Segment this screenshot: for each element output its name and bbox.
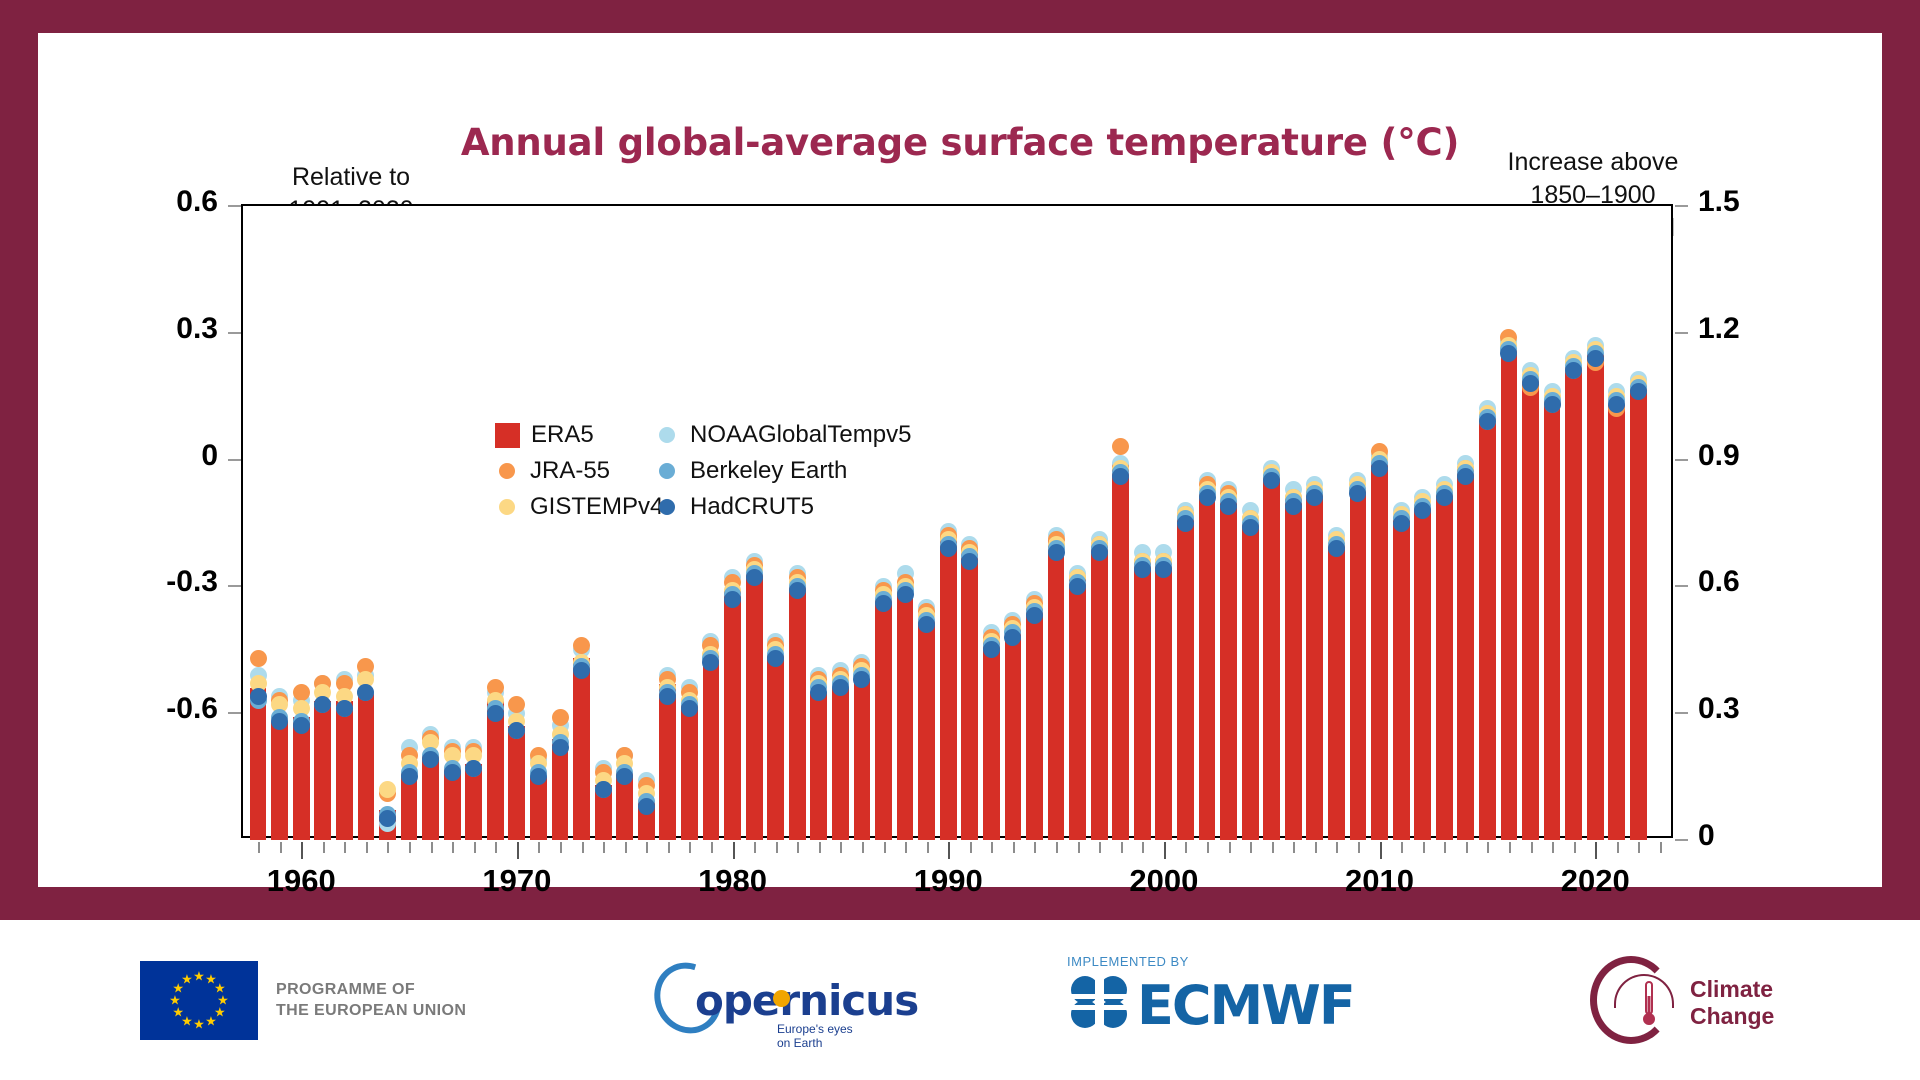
datapoint-hadcrut5-1963 — [357, 684, 374, 701]
datapoint-hadcrut5-2011 — [1393, 515, 1410, 532]
bar-2000 — [1155, 561, 1172, 840]
y-axis-left-label: 0 — [98, 439, 218, 473]
y-axis-right-label: 0.9 — [1698, 439, 1818, 473]
datapoint-hadcrut5-2006 — [1285, 498, 1302, 515]
datapoint-hadcrut5-1972 — [552, 739, 569, 756]
datapoint-hadcrut5-1974 — [595, 781, 612, 798]
thermometer-icon — [1642, 980, 1656, 1028]
c3s-line2: Change — [1690, 1003, 1774, 1030]
eu-star-icon: ★ — [205, 1014, 217, 1027]
x-axis-tick — [625, 842, 627, 853]
datapoint-jra-55-1972 — [552, 709, 569, 726]
footer-logo-bar: ★★★★★★★★★★★★ PROGRAMME OF THE EUROPEAN U… — [0, 920, 1920, 1080]
y-axis-left-label: 0.6 — [98, 185, 218, 219]
bar-1980 — [724, 591, 741, 840]
x-axis-label: 1990 — [878, 863, 1018, 899]
x-axis-tick — [344, 842, 346, 853]
x-axis-tick — [366, 842, 368, 853]
x-axis-major-tick — [1380, 842, 1382, 859]
datapoint-hadcrut5-2001 — [1177, 515, 1194, 532]
ecmwf-wordmark: ECMWF — [1137, 974, 1354, 1037]
x-axis-label: 1970 — [447, 863, 587, 899]
y-axis-left-label: -0.3 — [98, 565, 218, 599]
y-axis-right-label: 0.3 — [1698, 692, 1818, 726]
eu-star-icon: ★ — [193, 970, 205, 983]
bar-1983 — [789, 586, 806, 840]
bar-1990 — [940, 536, 957, 840]
y-axis-left-tick — [228, 712, 241, 714]
bar-1989 — [918, 620, 935, 840]
x-axis-tick — [1142, 842, 1144, 853]
datapoint-hadcrut5-1996 — [1069, 578, 1086, 595]
legend-swatch-square — [495, 423, 520, 448]
bar-1994 — [1026, 608, 1043, 840]
datapoint-hadcrut5-1999 — [1134, 561, 1151, 578]
x-axis-tick — [1207, 842, 1209, 853]
bar-1986 — [854, 679, 871, 840]
x-axis-tick — [1638, 842, 1640, 853]
x-axis-label: 1960 — [231, 863, 371, 899]
x-axis-tick — [1444, 842, 1446, 853]
datapoint-jra-55-1960 — [293, 684, 310, 701]
ecmwf-implemented-by-label: IMPLEMENTED BY — [1067, 954, 1189, 969]
y-axis-right-tick — [1675, 712, 1688, 714]
datapoint-hadcrut5-2010 — [1371, 460, 1388, 477]
x-axis-tick — [1466, 842, 1468, 853]
datapoint-hadcrut5-1960 — [293, 717, 310, 734]
x-axis-tick — [840, 842, 842, 853]
bar-2006 — [1285, 498, 1302, 840]
bar-1979 — [703, 654, 720, 840]
bar-2014 — [1457, 468, 1474, 840]
x-axis-tick — [323, 842, 325, 853]
y-axis-left-tick — [228, 459, 241, 461]
x-axis-tick — [1617, 842, 1619, 853]
x-axis-major-tick — [517, 842, 519, 859]
bar-1996 — [1069, 578, 1086, 840]
plot-area: ERA5NOAAGlobalTempv5JRA-55Berkeley Earth… — [241, 204, 1673, 838]
datapoint-hadcrut5-2008 — [1328, 540, 1345, 557]
y-axis-right-label: 1.2 — [1698, 312, 1818, 346]
x-axis-tick — [776, 842, 778, 853]
legend-item-gistempv4[interactable]: GISTEMPv4 — [495, 493, 655, 521]
datapoint-hadcrut5-1988 — [897, 586, 914, 603]
ecmwf-logo: IMPLEMENTED BY ECMWF — [1065, 920, 1355, 1080]
eu-star-icon: ★ — [181, 973, 193, 986]
bar-2011 — [1393, 519, 1410, 840]
bar-1958 — [250, 688, 267, 840]
x-axis-major-tick — [301, 842, 303, 859]
bar-2001 — [1177, 519, 1194, 840]
bar-1971 — [530, 777, 547, 840]
y-axis-left-tick — [228, 585, 241, 587]
legend-swatch-dot — [659, 499, 675, 515]
datapoint-hadcrut5-2015 — [1479, 413, 1496, 430]
x-axis-tick — [1315, 842, 1317, 853]
bar-2010 — [1371, 464, 1388, 840]
poster: Annual global-average surface temperatur… — [0, 0, 1920, 1080]
x-axis-tick — [452, 842, 454, 853]
c3s-line1: Climate — [1690, 976, 1774, 1003]
x-axis-tick — [1293, 842, 1295, 853]
datapoint-hadcrut5-1965 — [401, 768, 418, 785]
bar-2017 — [1522, 379, 1539, 840]
y-axis-right-tick — [1675, 839, 1688, 841]
y-axis-right-tick — [1675, 585, 1688, 587]
x-axis-tick — [1531, 842, 1533, 853]
bar-2005 — [1263, 477, 1280, 840]
bar-1987 — [875, 599, 892, 840]
y-axis-left-label: -0.6 — [98, 692, 218, 726]
datapoint-hadcrut5-1976 — [638, 798, 655, 815]
y-axis-right-label: 0 — [1698, 819, 1818, 853]
x-axis-tick — [711, 842, 713, 853]
datapoint-hadcrut5-1993 — [1004, 629, 1021, 646]
x-axis-tick — [689, 842, 691, 853]
bar-1970 — [508, 726, 525, 840]
bar-1992 — [983, 641, 1000, 840]
datapoint-hadcrut5-2013 — [1436, 489, 1453, 506]
x-axis-tick — [560, 842, 562, 853]
bar-2002 — [1199, 493, 1216, 840]
bar-1988 — [897, 591, 914, 840]
datapoint-hadcrut5-1983 — [789, 582, 806, 599]
x-axis-tick — [1660, 842, 1662, 853]
x-axis-tick — [1487, 842, 1489, 853]
x-axis-tick — [1229, 842, 1231, 853]
x-axis-tick — [1250, 842, 1252, 853]
x-axis-tick — [1034, 842, 1036, 853]
bar-1966 — [422, 755, 439, 840]
x-axis-tick — [258, 842, 260, 853]
bar-1984 — [810, 692, 827, 840]
bar-2022 — [1630, 388, 1647, 840]
x-axis-tick — [1121, 842, 1123, 853]
legend-swatch-dot — [659, 463, 675, 479]
bar-2009 — [1350, 489, 1367, 840]
x-axis-tick — [754, 842, 756, 853]
x-axis-label: 1980 — [663, 863, 803, 899]
climate-change-logo: Climate Change — [1590, 920, 1820, 1080]
bar-1973 — [573, 658, 590, 840]
x-axis-tick — [1401, 842, 1403, 853]
bar-1978 — [681, 705, 698, 840]
x-axis-label: 2010 — [1310, 863, 1450, 899]
eu-logo-line2: THE EUROPEAN UNION — [276, 1000, 466, 1021]
x-axis-tick — [1056, 842, 1058, 853]
datapoint-hadcrut5-2004 — [1242, 519, 1259, 536]
bar-1993 — [1005, 629, 1022, 840]
bar-2008 — [1328, 544, 1345, 840]
datapoint-hadcrut5-1990 — [940, 540, 957, 557]
x-axis-tick — [582, 842, 584, 853]
datapoint-hadcrut5-1958 — [250, 688, 267, 705]
legend-item-noaaglobaltempv5[interactable]: NOAAGlobalTempv5 — [655, 421, 965, 449]
y-axis-right-tick — [1675, 205, 1688, 207]
right-axis-note-line1: Increase above — [1468, 146, 1718, 179]
copernicus-dot-icon — [773, 990, 790, 1007]
bar-1960 — [293, 717, 310, 840]
bar-1962 — [336, 701, 353, 840]
bar-2019 — [1565, 367, 1582, 840]
datapoint-jra-55-1973 — [573, 637, 590, 654]
datapoint-jra-55-1998 — [1112, 438, 1129, 455]
x-axis-tick — [474, 842, 476, 853]
x-axis-major-tick — [733, 842, 735, 859]
legend-item-label: ERA5 — [531, 421, 594, 449]
x-axis-tick — [862, 842, 864, 853]
datapoint-hadcrut5-1982 — [767, 650, 784, 667]
y-axis-right-tick — [1675, 459, 1688, 461]
datapoint-hadcrut5-2017 — [1522, 375, 1539, 392]
legend-swatch-dot — [499, 499, 515, 515]
x-axis-tick — [819, 842, 821, 853]
x-axis-tick — [970, 842, 972, 853]
climate-change-logo-mark: Climate Change — [1590, 954, 1820, 1046]
datapoint-hadcrut5-2002 — [1199, 489, 1216, 506]
datapoint-gistempv4-1964 — [379, 781, 396, 798]
x-axis-tick — [538, 842, 540, 853]
bar-1985 — [832, 688, 849, 840]
x-axis-tick — [1552, 842, 1554, 853]
y-axis-left-tick — [228, 332, 241, 334]
legend-item-jra-55[interactable]: JRA-55 — [495, 457, 655, 485]
datapoint-hadcrut5-1980 — [724, 591, 741, 608]
x-axis-tick — [797, 842, 799, 853]
bar-1961 — [314, 701, 331, 840]
x-axis-tick — [1423, 842, 1425, 853]
datapoint-hadcrut5-1969 — [487, 705, 504, 722]
x-axis-tick — [1336, 842, 1338, 853]
datapoint-hadcrut5-1977 — [659, 688, 676, 705]
legend-item-hadcrut5[interactable]: HadCRUT5 — [655, 493, 965, 521]
chart-canvas: Annual global-average surface temperatur… — [38, 33, 1882, 887]
legend-item-label: HadCRUT5 — [690, 493, 814, 521]
datapoint-hadcrut5-1995 — [1048, 544, 1065, 561]
bar-1977 — [659, 684, 676, 840]
copernicus-logo: opernicus Europe's eyes on Earth — [655, 920, 865, 1080]
datapoint-hadcrut5-1981 — [746, 569, 763, 586]
x-axis-tick — [646, 842, 648, 853]
copernicus-logo-mark: opernicus Europe's eyes on Earth — [655, 960, 865, 1040]
x-axis-tick — [387, 842, 389, 853]
x-axis-major-tick — [948, 842, 950, 859]
bar-2018 — [1544, 400, 1561, 840]
eu-logo-text: PROGRAMME OF THE EUROPEAN UNION — [276, 979, 466, 1021]
x-axis-tick — [884, 842, 886, 853]
x-axis-tick — [1013, 842, 1015, 853]
bar-2015 — [1479, 417, 1496, 840]
y-axis-right-label: 1.5 — [1698, 185, 1818, 219]
x-axis-label: 2000 — [1094, 863, 1234, 899]
ecmwf-cloud-icon — [1065, 976, 1137, 1028]
datapoint-hadcrut5-1967 — [444, 764, 461, 781]
x-axis-tick — [1358, 842, 1360, 853]
x-axis-tick — [905, 842, 907, 853]
datapoint-hadcrut5-2020 — [1587, 350, 1604, 367]
bar-2004 — [1242, 523, 1259, 840]
bar-1981 — [746, 574, 763, 840]
eu-logo: ★★★★★★★★★★★★ PROGRAMME OF THE EUROPEAN U… — [140, 920, 466, 1080]
x-axis-tick — [1272, 842, 1274, 853]
maroon-frame: Annual global-average surface temperatur… — [0, 0, 1920, 920]
bar-2003 — [1220, 502, 1237, 840]
x-axis-tick — [431, 842, 433, 853]
bar-1997 — [1091, 544, 1108, 840]
legend-item-label: Berkeley Earth — [690, 457, 847, 485]
y-axis-right-tick — [1675, 332, 1688, 334]
datapoint-hadcrut5-2012 — [1414, 502, 1431, 519]
x-axis-label: 2020 — [1525, 863, 1665, 899]
legend-item-label: GISTEMPv4 — [530, 493, 663, 521]
x-axis-tick — [1099, 842, 1101, 853]
datapoint-hadcrut5-1997 — [1091, 544, 1108, 561]
legend-item-berkeley-earth[interactable]: Berkeley Earth — [655, 457, 965, 485]
x-axis-tick — [1078, 842, 1080, 853]
legend-item-label: JRA-55 — [530, 457, 610, 485]
legend-item-era5[interactable]: ERA5 — [495, 421, 655, 449]
legend-swatch-dot — [499, 463, 515, 479]
x-axis-tick — [603, 842, 605, 853]
bar-1995 — [1048, 540, 1065, 840]
datapoint-hadcrut5-1987 — [875, 595, 892, 612]
bar-1999 — [1134, 561, 1151, 840]
legend-item-label: NOAAGlobalTempv5 — [690, 421, 911, 449]
x-axis-tick — [927, 842, 929, 853]
datapoint-jra-55-1958 — [250, 650, 267, 667]
bar-2020 — [1587, 354, 1604, 840]
x-axis-major-tick — [1595, 842, 1597, 859]
bar-1991 — [961, 548, 978, 840]
climate-change-wordmark: Climate Change — [1690, 976, 1774, 1030]
datapoint-hadcrut5-1971 — [530, 768, 547, 785]
copernicus-wordmark: opernicus — [695, 976, 918, 1025]
x-axis-major-tick — [1164, 842, 1166, 859]
y-axis-left-label: 0.3 — [98, 312, 218, 346]
eu-star-icon: ★ — [193, 1018, 205, 1031]
x-axis-tick — [1185, 842, 1187, 853]
datapoint-hadcrut5-1970 — [508, 722, 525, 739]
eu-flag-icon: ★★★★★★★★★★★★ — [140, 961, 258, 1040]
bar-2013 — [1436, 493, 1453, 840]
bar-2016 — [1501, 350, 1518, 840]
datapoint-hadcrut5-2018 — [1544, 396, 1561, 413]
legend-swatch-dot — [659, 427, 675, 443]
bar-1998 — [1112, 464, 1129, 840]
chart-legend: ERA5NOAAGlobalTempv5JRA-55Berkeley Earth… — [495, 417, 965, 532]
bar-1963 — [358, 692, 375, 840]
left-axis-note-line1: Relative to — [236, 161, 466, 194]
x-axis-tick — [1509, 842, 1511, 853]
bar-1982 — [767, 654, 784, 840]
x-axis-tick — [280, 842, 282, 853]
datapoint-hadcrut5-2003 — [1220, 498, 1237, 515]
x-axis-tick — [409, 842, 411, 853]
eu-logo-line1: PROGRAMME OF — [276, 979, 466, 1000]
bar-2012 — [1414, 506, 1431, 840]
y-axis-right-label: 0.6 — [1698, 565, 1818, 599]
x-axis-tick — [668, 842, 670, 853]
x-axis-tick — [1574, 842, 1576, 853]
datapoint-hadcrut5-1968 — [465, 760, 482, 777]
copernicus-tagline: Europe's eyes on Earth — [777, 1022, 865, 1050]
datapoint-hadcrut5-1989 — [918, 616, 935, 633]
x-axis-tick — [991, 842, 993, 853]
y-axis-left-tick — [228, 205, 241, 207]
bar-1959 — [271, 722, 288, 840]
bar-2021 — [1608, 405, 1625, 840]
ecmwf-logo-mark: IMPLEMENTED BY ECMWF — [1065, 954, 1355, 1046]
datapoint-hadcrut5-1991 — [961, 553, 978, 570]
x-axis-tick — [495, 842, 497, 853]
datapoint-hadcrut5-1984 — [810, 684, 827, 701]
bar-2007 — [1306, 493, 1323, 840]
